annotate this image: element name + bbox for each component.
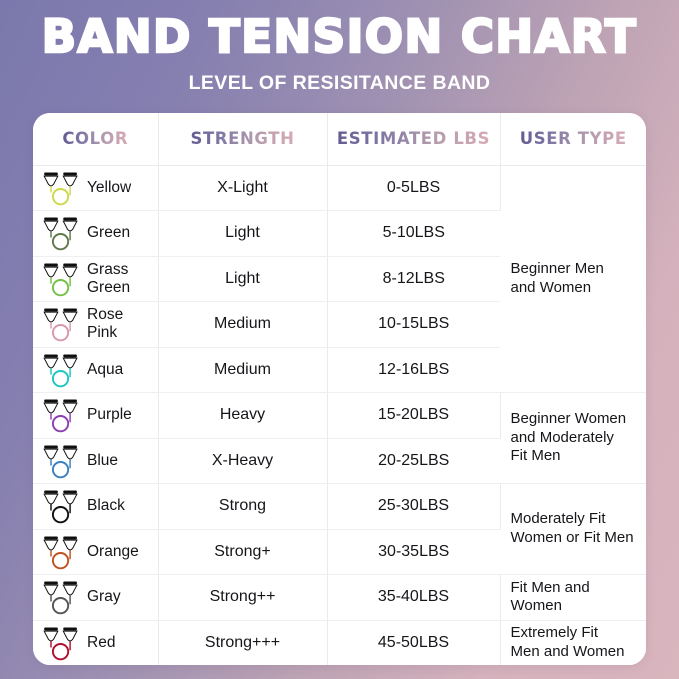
cell-color: Aqua xyxy=(33,347,158,393)
cell-strength: X-Light xyxy=(158,165,327,211)
cell-color: Grass Green xyxy=(33,256,158,302)
cell-estimated-lbs: 15-20LBS xyxy=(327,393,500,439)
column-header-user: USER TYPE xyxy=(500,113,646,165)
resistance-band-icon xyxy=(41,168,81,208)
cell-strength: Strong+ xyxy=(158,529,327,575)
color-name: Blue xyxy=(87,452,118,470)
color-name: Aqua xyxy=(87,361,123,379)
color-name: Green xyxy=(87,224,130,242)
cell-estimated-lbs: 25-30LBS xyxy=(327,484,500,530)
table-header-row: COLORSTRENGTHESTIMATED LBSUSER TYPE xyxy=(33,113,646,165)
color-name: Gray xyxy=(87,588,121,606)
cell-estimated-lbs: 12-16LBS xyxy=(327,347,500,393)
cell-color: Red xyxy=(33,620,158,665)
cell-color: Purple xyxy=(33,393,158,439)
resistance-band-icon xyxy=(41,623,81,663)
resistance-band-icon xyxy=(41,213,81,253)
cell-strength: Medium xyxy=(158,302,327,348)
cell-strength: Light xyxy=(158,256,327,302)
resistance-band-icon xyxy=(41,532,81,572)
cell-color: Gray xyxy=(33,575,158,621)
table-row: GrayStrong++35-40LBSFit Men and Women xyxy=(33,575,646,621)
page-subtitle: LEVEL OF RESISITANCE BAND xyxy=(0,72,679,95)
cell-strength: Light xyxy=(158,211,327,257)
resistance-band-icon xyxy=(41,350,81,390)
cell-strength: Strong+++ xyxy=(158,620,327,665)
cell-color: Green xyxy=(33,211,158,257)
resistance-band-icon xyxy=(41,259,81,299)
color-name: Purple xyxy=(87,406,132,424)
cell-estimated-lbs: 8-12LBS xyxy=(327,256,500,302)
cell-strength: Medium xyxy=(158,347,327,393)
cell-strength: Heavy xyxy=(158,393,327,439)
cell-color: Rose Pink xyxy=(33,302,158,348)
resistance-band-icon xyxy=(41,395,81,435)
resistance-band-icon xyxy=(41,441,81,481)
cell-color: Orange xyxy=(33,529,158,575)
table-row: RedStrong+++45-50LBSExtremely Fit Men an… xyxy=(33,620,646,665)
color-name: Black xyxy=(87,497,125,515)
cell-estimated-lbs: 0-5LBS xyxy=(327,165,500,211)
table-row: YellowX-Light0-5LBSBeginner Men and Wome… xyxy=(33,165,646,211)
cell-strength: Strong++ xyxy=(158,575,327,621)
cell-user-type: Beginner Men and Women xyxy=(500,165,646,393)
resistance-band-icon xyxy=(41,486,81,526)
cell-user-type: Beginner Women and Moderately Fit Men xyxy=(500,393,646,484)
cell-user-type: Moderately Fit Women or Fit Men xyxy=(500,484,646,575)
column-header-strength: STRENGTH xyxy=(158,113,327,165)
cell-color: Yellow xyxy=(33,165,158,211)
cell-estimated-lbs: 5-10LBS xyxy=(327,211,500,257)
color-name: Rose Pink xyxy=(87,306,123,342)
page-title: BAND TENSION CHART xyxy=(0,13,679,62)
chart-card: COLORSTRENGTHESTIMATED LBSUSER TYPE Yell… xyxy=(33,113,646,665)
column-header-color: COLOR xyxy=(33,113,158,165)
cell-estimated-lbs: 45-50LBS xyxy=(327,620,500,665)
cell-estimated-lbs: 10-15LBS xyxy=(327,302,500,348)
cell-user-type: Fit Men and Women xyxy=(500,575,646,621)
column-header-label: STRENGTH xyxy=(190,129,294,148)
cell-color: Black xyxy=(33,484,158,530)
resistance-band-icon xyxy=(41,304,81,344)
cell-user-type: Extremely Fit Men and Women xyxy=(500,620,646,665)
color-name: Grass Green xyxy=(87,261,130,297)
band-tension-table: COLORSTRENGTHESTIMATED LBSUSER TYPE Yell… xyxy=(33,113,646,665)
color-name: Yellow xyxy=(87,179,131,197)
table-header: COLORSTRENGTHESTIMATED LBSUSER TYPE xyxy=(33,113,646,165)
color-name: Red xyxy=(87,634,115,652)
color-name: Orange xyxy=(87,543,139,561)
cell-estimated-lbs: 30-35LBS xyxy=(327,529,500,575)
cell-estimated-lbs: 35-40LBS xyxy=(327,575,500,621)
table-row: PurpleHeavy15-20LBSBeginner Women and Mo… xyxy=(33,393,646,439)
resistance-band-icon xyxy=(41,577,81,617)
table-body: YellowX-Light0-5LBSBeginner Men and Wome… xyxy=(33,165,646,665)
cell-color: Blue xyxy=(33,438,158,484)
column-header-lbs: ESTIMATED LBS xyxy=(327,113,500,165)
cell-estimated-lbs: 20-25LBS xyxy=(327,438,500,484)
cell-strength: Strong xyxy=(158,484,327,530)
column-header-label: COLOR xyxy=(62,129,128,148)
table-row: BlackStrong25-30LBSModerately Fit Women … xyxy=(33,484,646,530)
page-header: BAND TENSION CHART LEVEL OF RESISITANCE … xyxy=(0,0,679,95)
cell-strength: X-Heavy xyxy=(158,438,327,484)
column-header-label: USER TYPE xyxy=(520,129,627,148)
column-header-label: ESTIMATED LBS xyxy=(337,129,490,148)
